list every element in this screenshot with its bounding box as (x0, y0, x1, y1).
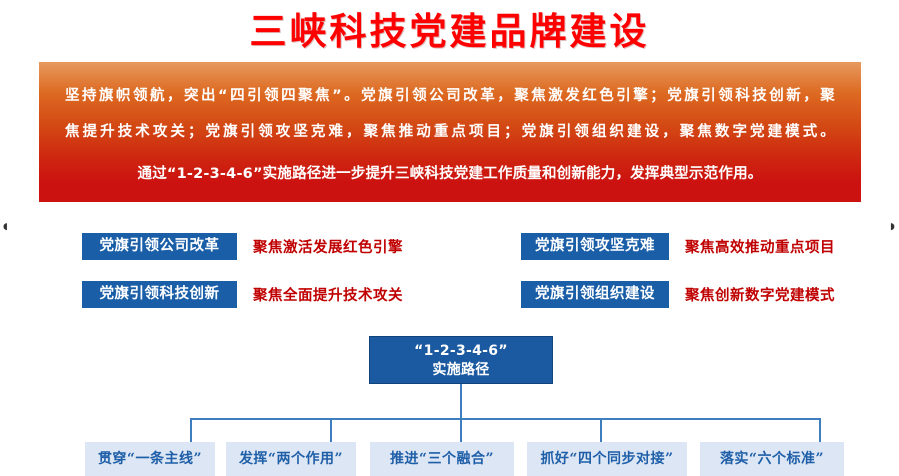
banner-line-2: 焦提升技术攻关；党旗引领攻坚克难，聚焦推动重点项目；党旗引领组织建设，聚焦数字党… (65, 114, 835, 150)
implementation-path-diagram: “1-2-3-4-6” 实施路径 贯穿“一条主线” 发挥“两个作用” 推进“三个… (0, 336, 899, 462)
banner-line-1: 坚持旗帜领航，突出“四引领四聚焦”。党旗引领公司改革，聚焦激发红色引擎；党旗引领… (65, 78, 835, 114)
pillar-tag-2: 党旗引领科技创新 (82, 281, 237, 308)
leaf-node-5[interactable]: 落实“六个标准” (700, 442, 844, 476)
pillar-item-4[interactable]: 党旗引领组织建设 聚焦创新数字党建模式 (521, 281, 835, 308)
leaf-node-4[interactable]: 抓好“四个同步对接” (527, 442, 687, 476)
connector-drop-5 (819, 418, 821, 442)
pillar-focus-2: 聚焦全面提升技术攻关 (253, 284, 403, 305)
connector-drop-3 (460, 418, 462, 442)
right-edge-marker-icon: ◗ (890, 224, 896, 231)
pillar-focus-4: 聚焦创新数字党建模式 (685, 284, 835, 305)
root-node-line-2: 实施路径 (370, 361, 552, 380)
page-title: 三峡科技党建品牌建设 (0, 8, 899, 56)
summary-banner: 坚持旗帜领航，突出“四引领四聚焦”。党旗引领公司改革，聚焦激发红色引擎；党旗引领… (39, 62, 861, 202)
pillar-focus-1: 聚焦激活发展红色引擎 (253, 236, 403, 257)
pillar-focus-3: 聚焦高效推动重点项目 (685, 236, 835, 257)
connector-drop-1 (190, 418, 192, 442)
pillar-tag-3: 党旗引领攻坚克难 (521, 233, 669, 260)
pillar-item-2[interactable]: 党旗引领科技创新 聚焦全面提升技术攻关 (82, 281, 403, 308)
four-pillars-group: 党旗引领公司改革 聚焦激活发展红色引擎 党旗引领科技创新 聚焦全面提升技术攻关 … (0, 233, 899, 319)
pillar-item-1[interactable]: 党旗引领公司改革 聚焦激活发展红色引擎 (82, 233, 403, 260)
root-node-implementation-path[interactable]: “1-2-3-4-6” 实施路径 (369, 336, 553, 384)
leaf-node-2[interactable]: 发挥“两个作用” (226, 442, 356, 476)
left-edge-marker-icon: ◖ (3, 224, 9, 231)
connector-drop-4 (600, 418, 602, 442)
pillar-tag-4: 党旗引领组织建设 (521, 281, 669, 308)
connector-drop-2 (330, 418, 332, 442)
leaf-node-3[interactable]: 推进“三个融合” (370, 442, 514, 476)
connector-horizontal-bar (190, 418, 820, 420)
pillar-item-3[interactable]: 党旗引领攻坚克难 聚焦高效推动重点项目 (521, 233, 835, 260)
connector-stem (460, 384, 462, 419)
leaf-node-1[interactable]: 贯穿“一条主线” (85, 442, 215, 476)
banner-line-3: 通过“1-2-3-4-6”实施路径进一步提升三峡科技党建工作质量和创新能力，发挥… (65, 150, 835, 192)
root-node-line-1: “1-2-3-4-6” (370, 342, 552, 361)
pillar-tag-1: 党旗引领公司改革 (82, 233, 237, 260)
